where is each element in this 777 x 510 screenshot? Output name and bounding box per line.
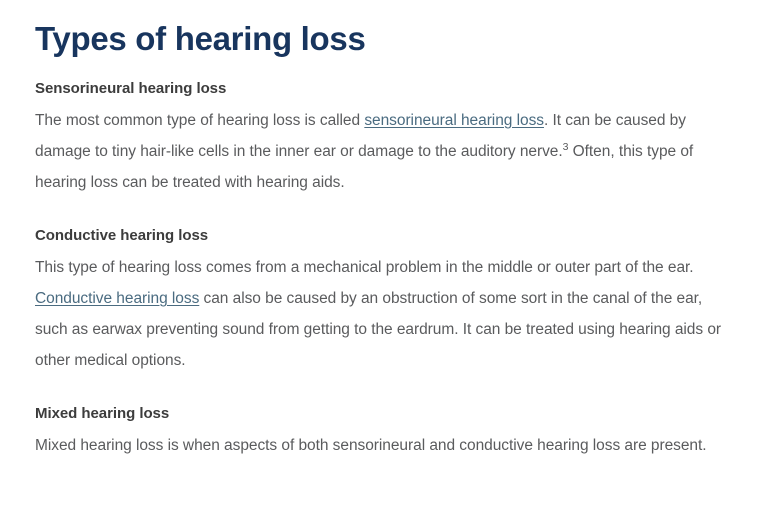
section-body-mixed: Mixed hearing loss is when aspects of bo… [35,430,725,461]
section-body-conductive: This type of hearing loss comes from a m… [35,252,725,376]
section-conductive: Conductive hearing loss This type of hea… [35,225,742,376]
body-text-lead: The most common type of hearing loss is … [35,112,364,129]
section-mixed: Mixed hearing loss Mixed hearing loss is… [35,403,742,461]
page-title: Types of hearing loss [35,18,742,60]
section-heading-sensorineural: Sensorineural hearing loss [35,78,742,99]
link-conductive-hearing-loss[interactable]: Conductive hearing loss [35,290,199,307]
body-text-lead: Mixed hearing loss is when aspects of bo… [35,437,707,454]
article-container: Types of hearing loss Sensorineural hear… [0,0,777,461]
section-sensorineural: Sensorineural hearing loss The most comm… [35,78,742,198]
link-sensorineural-hearing-loss[interactable]: sensorineural hearing loss [364,112,544,129]
section-heading-conductive: Conductive hearing loss [35,225,742,246]
section-body-sensorineural: The most common type of hearing loss is … [35,105,725,198]
section-heading-mixed: Mixed hearing loss [35,403,742,424]
body-text-lead: This type of hearing loss comes from a m… [35,259,694,276]
